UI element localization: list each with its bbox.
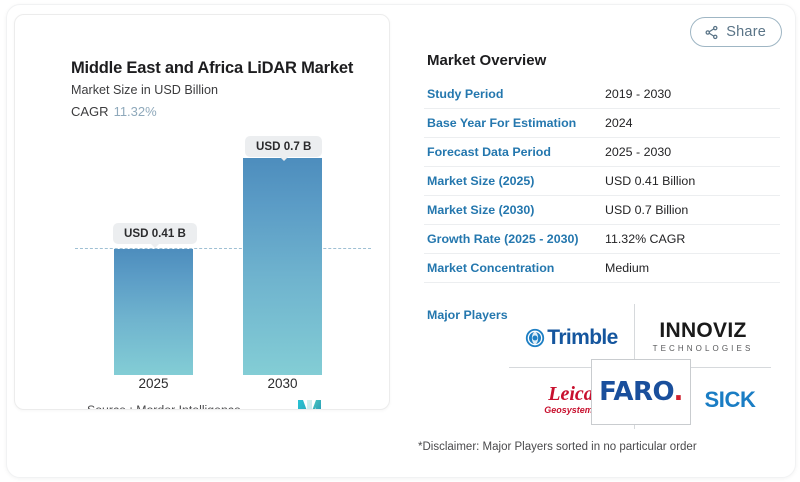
player-name-sick: SICK [705,387,756,413]
row-label: Study Period [424,87,605,101]
bar-label-2025: USD 0.41 B [113,223,197,244]
table-row: Growth Rate (2025 - 2030) 11.32% CAGR [424,225,780,254]
player-logo-innoviz: INNOVIZ TECHNOLOGIES [635,306,771,366]
table-row: Market Size (2030) USD 0.7 Billion [424,196,780,225]
disclaimer-text: *Disclaimer: Major Players sorted in no … [418,441,697,453]
trimble-mark-icon [525,328,545,348]
player-name-faro: FARO. [599,377,683,407]
major-players-logo-grid: Trimble INNOVIZ TECHNOLOGIES Leica Geosy… [509,304,771,429]
screenshot-root: Share Middle East and Africa LiDAR Marke… [0,0,800,482]
major-players-label: Major Players [427,308,508,322]
faro-dot-icon: . [674,377,683,407]
row-value: 11.32% CAGR [605,232,685,246]
innoviz-wordmark: INNOVIZ [659,319,746,342]
player-name-leica: Leica [548,384,594,404]
row-label: Market Size (2025) [424,174,605,188]
bar-label-2030: USD 0.7 B [245,136,322,157]
row-value: USD 0.41 Billion [605,174,695,188]
x-axis-label-2030: 2030 [243,376,322,391]
table-row: Base Year For Estimation 2024 [424,109,780,138]
row-value: Medium [605,261,649,275]
row-value: 2024 [605,116,633,130]
table-row: Study Period 2019 - 2030 [424,80,780,109]
player-name-innoviz: INNOVIZ [659,320,746,341]
source-text: Source : Mordor Intelligence [87,403,241,410]
chart-card: Middle East and Africa LiDAR Market Mark… [14,14,390,410]
table-row: Forecast Data Period 2025 - 2030 [424,138,780,167]
player-name-trimble: Trimble [547,326,618,350]
player-logo-sick: SICK [689,372,771,427]
share-icon [704,25,719,40]
bar-2030 [243,158,322,375]
row-label: Forecast Data Period [424,145,605,159]
row-label: Market Size (2030) [424,203,605,217]
row-label: Market Concentration [424,261,605,275]
share-button-label: Share [726,24,766,40]
x-axis-label-2025: 2025 [114,376,193,391]
market-overview-title: Market Overview [427,52,546,69]
player-logo-faro: FARO. [591,359,691,425]
row-value: 2025 - 2030 [605,145,671,159]
share-button[interactable]: Share [690,17,782,47]
player-sub-innoviz: TECHNOLOGIES [653,344,754,353]
market-overview-table: Study Period 2019 - 2030 Base Year For E… [424,80,780,283]
row-label: Base Year For Estimation [424,116,605,130]
plot-area: USD 0.41 B USD 0.7 B 2025 2030 [15,15,390,410]
faro-wordmark: FARO [599,377,673,407]
table-row: Market Concentration Medium [424,254,780,283]
mordor-intelligence-logo [298,400,324,410]
table-row: Market Size (2025) USD 0.41 Billion [424,167,780,196]
bar-2025 [114,249,193,375]
player-logo-trimble: Trimble [509,310,634,365]
market-overview-panel: Market Overview Study Period 2019 - 2030… [414,14,786,470]
row-value: 2019 - 2030 [605,87,671,101]
row-value: USD 0.7 Billion [605,203,688,217]
row-label: Growth Rate (2025 - 2030) [424,232,605,246]
player-sub-leica: Geosystems [544,405,598,415]
